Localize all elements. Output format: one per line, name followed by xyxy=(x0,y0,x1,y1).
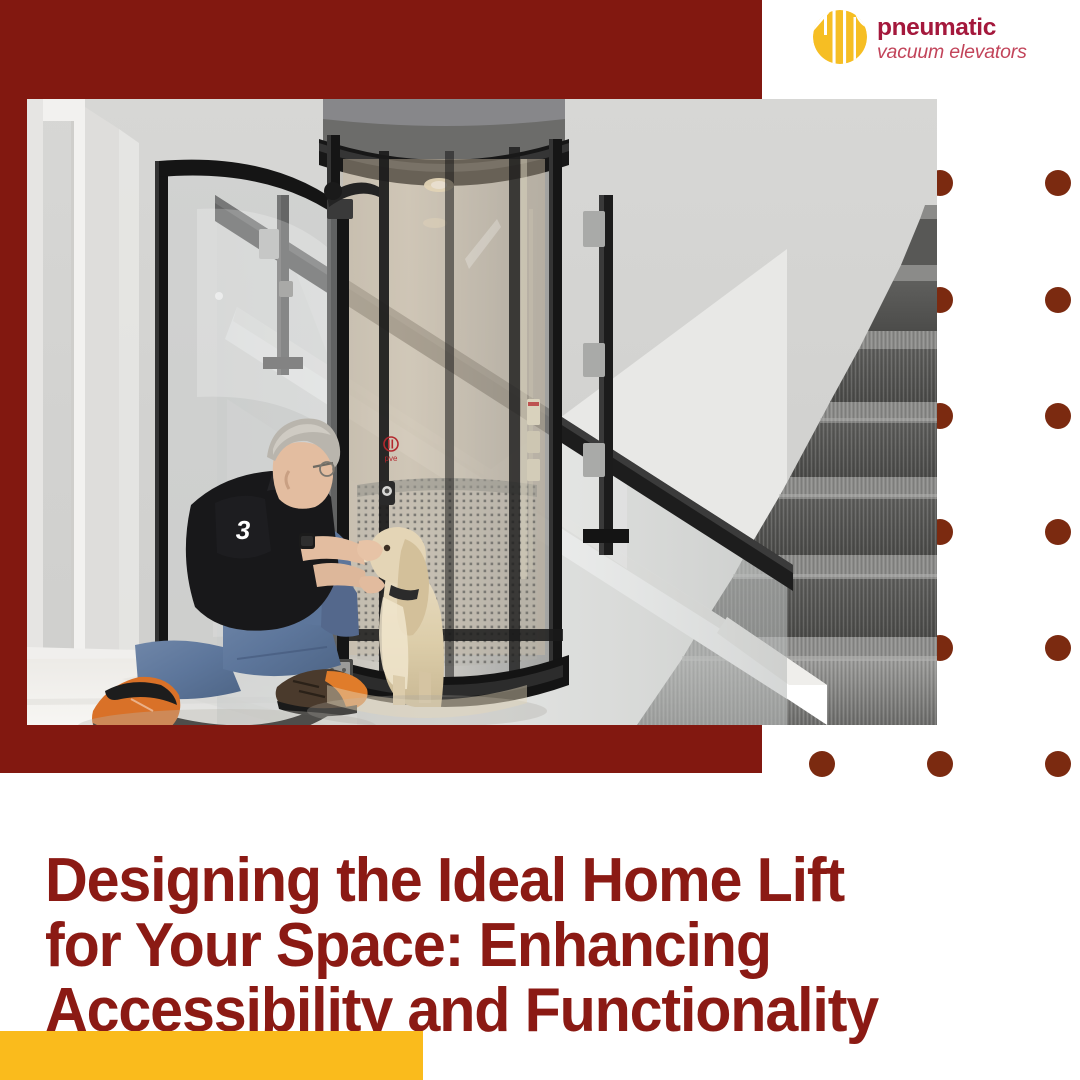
headline-line-2: for Your Space: Enhancing xyxy=(45,913,905,978)
svg-text:3: 3 xyxy=(236,515,251,545)
decorative-dot xyxy=(1045,751,1071,777)
brand-name: pneumatic xyxy=(877,16,1027,41)
brand-logo-text: pneumatic vacuum elevators xyxy=(877,12,1027,62)
headline-line-1: Designing the Ideal Home Lift xyxy=(45,848,905,913)
decorative-dot xyxy=(809,751,835,777)
brand-tagline: vacuum elevators xyxy=(877,43,1027,63)
brand-logo: pneumatic vacuum elevators xyxy=(812,6,1062,68)
decorative-dot xyxy=(1045,519,1071,545)
decorative-dot xyxy=(1045,403,1071,429)
poster-canvas: pneumatic vacuum elevators xyxy=(0,0,1080,1080)
decorative-dot xyxy=(1045,287,1071,313)
svg-text:pve: pve xyxy=(385,454,398,463)
decorative-dot xyxy=(1045,635,1071,661)
decorative-dot xyxy=(927,751,953,777)
pneumatic-vacuum-elevators-logo-icon xyxy=(812,9,868,65)
hero-photo: pve xyxy=(27,99,937,725)
decorative-dot xyxy=(1045,170,1071,196)
yellow-accent-bar xyxy=(0,1031,423,1080)
page-title: Designing the Ideal Home Lift for Your S… xyxy=(45,848,905,1044)
